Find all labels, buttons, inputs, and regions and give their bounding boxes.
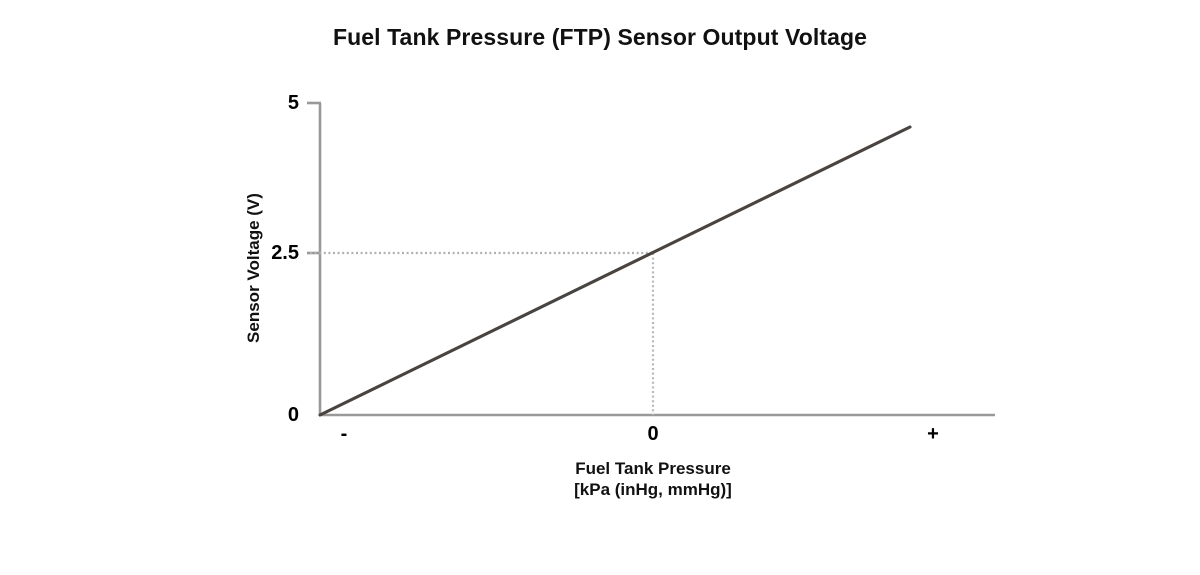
x-axis-title: Fuel Tank Pressure [kPa (inHg, mmHg)] bbox=[453, 458, 853, 500]
x-axis-title-line2: [kPa (inHg, mmHg)] bbox=[453, 479, 853, 500]
x-tick-label-negative: - bbox=[314, 423, 374, 446]
x-axis-title-line1: Fuel Tank Pressure bbox=[453, 458, 853, 479]
x-tick-label-zero: 0 bbox=[623, 423, 683, 446]
chart-figure: Fuel Tank Pressure (FTP) Sensor Output V… bbox=[0, 0, 1200, 575]
x-tick-label-positive: + bbox=[903, 423, 963, 446]
y-axis-title-container: Sensor Voltage (V) bbox=[134, 148, 374, 388]
y-axis-title: Sensor Voltage (V) bbox=[244, 193, 264, 343]
data-series-line bbox=[320, 127, 910, 415]
y-tick-label-bottom: 0 bbox=[288, 404, 299, 427]
y-tick-label-top: 5 bbox=[288, 92, 299, 115]
